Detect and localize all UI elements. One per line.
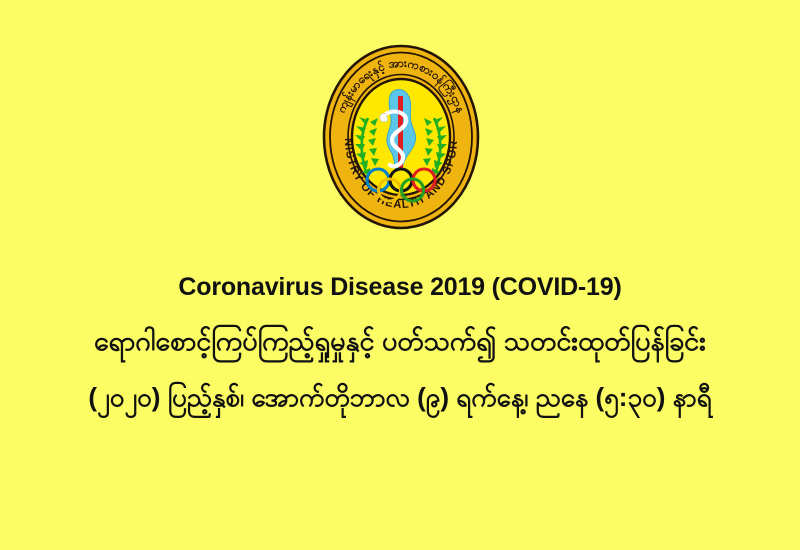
presentation-slide: ကျန်းမာရေးနှင့် အားကစားဝန်ကြီးဌာန MINIST… <box>0 0 800 550</box>
release-datetime-myanmar: (၂၀၂၀) ပြည့်နှစ်၊ အောက်တိုဘာလ (၉) ရက်နေ့… <box>0 373 800 421</box>
ministry-seal-svg: ကျန်းမာရေးနှင့် အားကစားဝန်ကြီးဌာန MINIST… <box>322 44 480 230</box>
ministry-seal-logo: ကျန်းမာရေးနှင့် အားကစားဝန်ကြီးဌာန MINIST… <box>322 44 480 230</box>
slide-text-block: Coronavirus Disease 2019 (COVID-19) ရောဂ… <box>0 270 800 421</box>
page-title-english: Coronavirus Disease 2019 (COVID-19) <box>0 270 800 304</box>
page-title-myanmar: ရောဂါစောင့်ကြပ်ကြည့်ရှုမှုနှင့် ပတ်သက်၍ … <box>0 317 800 365</box>
